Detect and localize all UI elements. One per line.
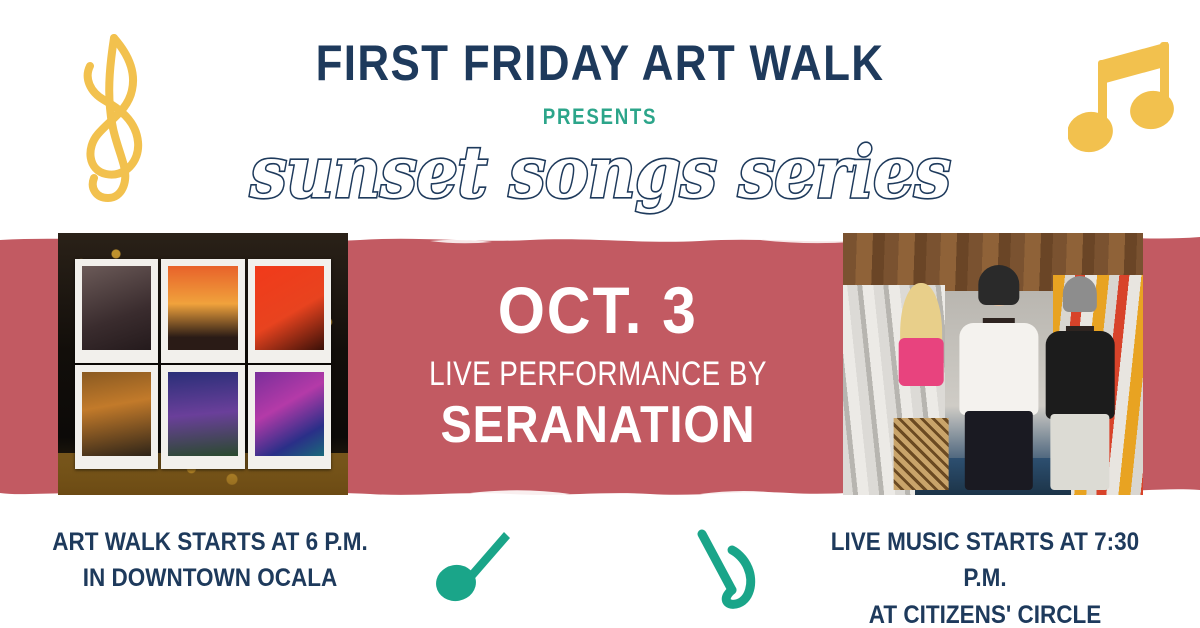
artwork-grid [75,259,330,469]
series-title: sunset songs series [0,135,1200,210]
event-details-block: OCT. 3 LIVE PERFORMANCE BY SERANATION [368,233,828,495]
band-member-right [1041,280,1119,490]
art-walk-photo [58,233,348,495]
beamed-eighth-notes-icon [1068,26,1180,166]
eighth-note-icon [692,528,762,610]
event-date: OCT. 3 [498,277,698,343]
art-walk-info: ART WALK STARTS AT 6 P.M. IN DOWNTOWN OC… [48,524,372,597]
artwork-frame [161,365,244,469]
art-walk-time: ART WALK STARTS AT 6 P.M. [48,524,372,560]
event-poster: FIRST FRIDAY ART WALK PRESENTS sunset so… [0,0,1200,628]
artwork-frame [161,259,244,363]
live-music-info: LIVE MUSIC STARTS AT 7:30 P.M. AT CITIZE… [819,524,1152,628]
art-walk-location: IN DOWNTOWN OCALA [48,560,372,596]
artwork-frame [248,259,331,363]
performance-label: LIVE PERFORMANCE BY [429,357,767,391]
band-photo [843,233,1143,495]
artist-name: SERANATION [441,399,756,451]
quarter-note-icon [436,528,514,604]
artwork-frame [248,365,331,469]
artwork-frame [75,365,158,469]
live-music-location: AT CITIZENS' CIRCLE [819,597,1152,628]
live-music-time: LIVE MUSIC STARTS AT 7:30 P.M. [819,524,1152,597]
header-block: FIRST FRIDAY ART WALK PRESENTS sunset so… [0,38,1200,207]
band-member-left [885,291,957,490]
page-title: FIRST FRIDAY ART WALK [72,38,1128,88]
band-member-center [954,270,1044,490]
presents-label: PRESENTS [90,106,1110,128]
artwork-frame [75,259,158,363]
treble-clef-icon [62,24,172,214]
